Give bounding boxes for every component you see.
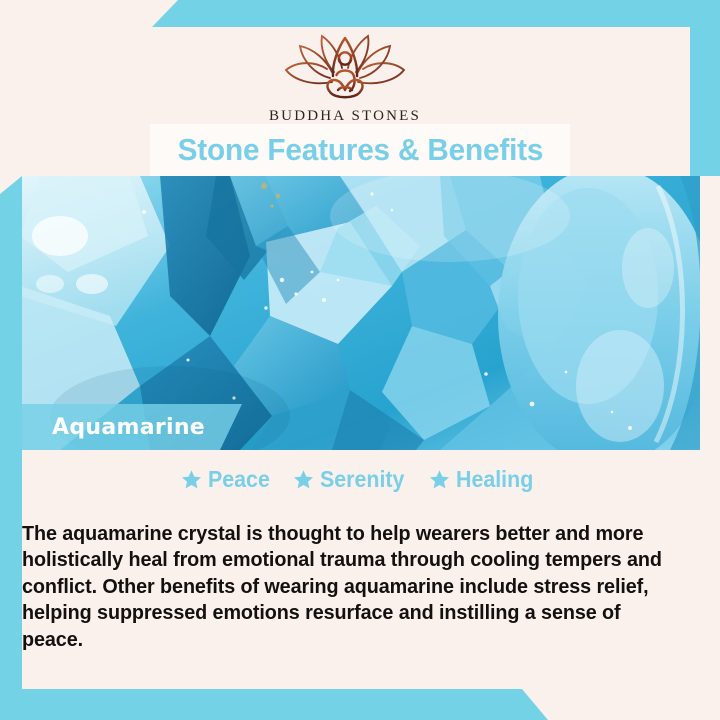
infographic-page: BUDDHA STONES Stone Features & Benefits — [0, 0, 720, 720]
lotus-meditation-logo-icon — [270, 30, 420, 108]
star-icon — [429, 469, 450, 490]
star-icon — [181, 469, 202, 490]
benefit-label: Healing — [456, 466, 533, 493]
benefit-item-peace: Peace — [181, 466, 275, 493]
photo-left-wedge — [0, 176, 22, 450]
stone-name-label: Aquamarine — [52, 415, 205, 440]
star-icon — [293, 469, 314, 490]
crystal-photo: Aquamarine — [20, 176, 700, 450]
top-accent-bar — [0, 0, 720, 27]
bottom-accent-bar — [0, 689, 720, 720]
benefit-item-serenity: Serenity — [293, 466, 411, 493]
benefit-item-healing: Healing — [429, 466, 539, 493]
benefit-label: Serenity — [320, 466, 404, 493]
benefits-row: Peace Serenity Healing — [22, 462, 698, 496]
left-accent-strip — [0, 450, 22, 720]
stone-name-badge: Aquamarine — [20, 404, 242, 450]
brand-name: BUDDHA STONES — [269, 109, 421, 124]
description-paragraph: The aquamarine crystal is thought to hel… — [22, 521, 670, 654]
header: BUDDHA STONES Stone Features & Benefits — [0, 27, 690, 176]
benefit-label: Peace — [208, 466, 270, 493]
right-accent-strip — [690, 0, 720, 176]
page-title: Stone Features & Benefits — [177, 132, 543, 168]
page-title-band: Stone Features & Benefits — [150, 124, 570, 176]
